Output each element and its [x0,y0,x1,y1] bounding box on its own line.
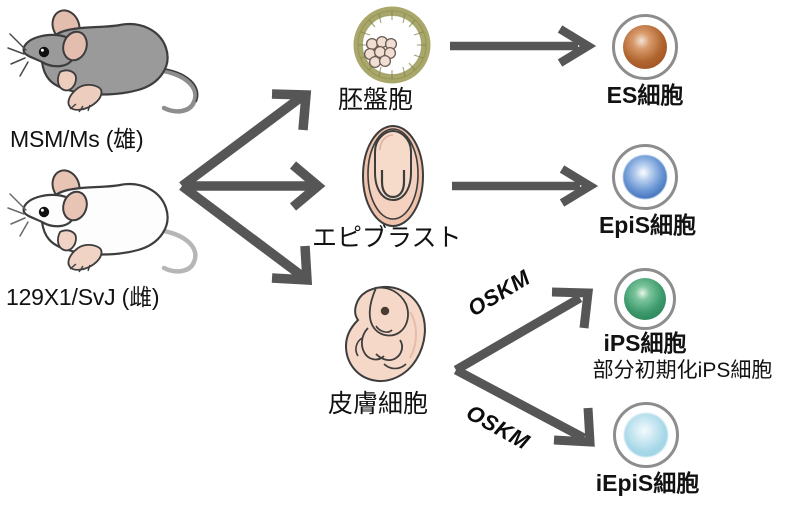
stage-label-epiblast: エピブラスト [312,226,462,251]
cell-label-es: ES細胞 [595,84,695,107]
ips-cell-icon [614,268,676,330]
diagram-canvas: MSM/Ms (雄) 129X1/SvJ (雌 [0,0,800,513]
epis-cell-core [623,155,667,199]
es-cell-icon [612,14,678,80]
strain-label-msm: MSM/Ms (雄) [10,128,143,151]
strain-label-129x1: 129X1/SvJ (雌) [6,286,159,309]
cell-label-epis: EpiS細胞 [590,214,705,237]
arrow-epiblast-to-epis [450,166,602,206]
stage-label-blastocyst: 胚盤胞 [338,88,413,113]
embryo-icon [332,282,442,388]
arrow-blastocyst-to-es [448,26,600,66]
es-cell-core [623,25,667,69]
stage-label-skin: 皮膚細胞 [328,392,428,417]
iepis-cell-core [624,413,668,457]
blastocyst-icon [348,4,436,86]
ips-cell-core [624,278,666,320]
three-way-branch-arrow [160,70,350,310]
epis-cell-icon [612,144,678,210]
cell-label-ips: iPS細胞 [595,332,695,355]
cell-sublabel-ips: 部分初期化iPS細胞 [570,360,795,381]
cell-label-iepis: iEpiS細胞 [585,472,710,495]
iepis-cell-icon [613,402,679,468]
epiblast-icon [356,124,430,228]
